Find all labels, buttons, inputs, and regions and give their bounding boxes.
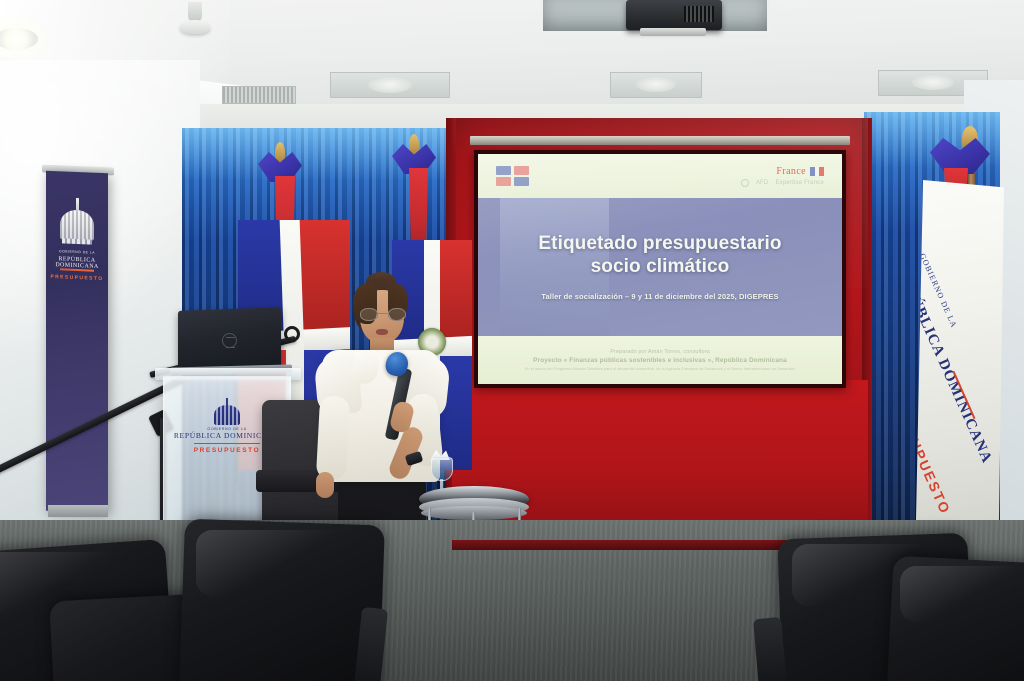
expertise-france-logo-label: Expertise France: [775, 180, 824, 186]
conference-room-photo: France AFD Expertise France Etiquetado p…: [0, 0, 1024, 681]
ceiling-diffuser-icon: [368, 76, 412, 93]
ceiling-diffuser-icon: [636, 76, 676, 92]
audience-chair-highlight: [900, 566, 1024, 622]
ceremonial-banner-presupuesto-label: PRESUPUESTO: [912, 394, 954, 517]
dome-base-icon: [62, 238, 92, 244]
ceremonial-banner-cloth: GOBIERNO DE LA REPÚBLICA DOMINICANA PRES…: [912, 180, 1004, 550]
french-flag-icon: [810, 167, 824, 176]
ceremonial-banner-country-label: REPÚBLICA DOMINICANA: [912, 264, 995, 466]
flag-quadrant-red: [496, 177, 511, 186]
flag-quadrant-blue: [514, 177, 529, 186]
screen-mount-bar: [470, 136, 850, 145]
water-glass[interactable]: [431, 457, 453, 481]
podium-presupuesto-label: PRESUPUESTO: [194, 447, 261, 454]
microphone-clip-icon[interactable]: [284, 326, 300, 342]
afd-logo-label: AFD: [756, 180, 769, 186]
eyeglasses-icon: [360, 308, 406, 321]
slide-footer-author: Preparado por Amán Torres, consultora: [610, 349, 710, 355]
capitol-dome-logo: [60, 209, 94, 240]
slide-subtitle: Taller de socialización – 9 y 11 de dici…: [541, 292, 778, 301]
rollup-banner-left: GOBIERNO DE LA REPÚBLICA DOMINICANA PRES…: [46, 171, 108, 514]
slide-body: Etiquetado presupuestario socio climátic…: [478, 198, 842, 336]
audience-chair-highlight: [196, 530, 346, 596]
dominican-republic-government-logo: [496, 166, 529, 186]
presenter-hand-left: [316, 472, 334, 498]
air-vent-icon: [222, 86, 296, 104]
flag-quadrant-blue: [496, 166, 511, 175]
podium-divider: [194, 443, 260, 444]
presenter-mouth: [376, 329, 388, 335]
partner-logo-row: AFD Expertise France: [741, 179, 824, 187]
smoke-detector-stem: [188, 2, 202, 22]
slide-footer: Preparado por Amán Torres, consultora Pr…: [478, 336, 842, 384]
podium-capitol-dome-logo: [214, 405, 240, 425]
banner-gov-label: GOBIERNO DE LA: [46, 249, 108, 256]
slide-title-line-2: socio climático: [591, 256, 730, 277]
slide-title-line-1: Etiquetado presupuestario: [538, 233, 781, 254]
presenter-arm-left: [316, 395, 350, 480]
projector-vent-icon: [684, 6, 714, 22]
hp-logo-icon: [222, 333, 237, 348]
flag-quadrant-red: [514, 166, 529, 175]
smoke-detector-icon: [180, 20, 210, 34]
red-wall-lower: [452, 380, 868, 543]
slide-title: Etiquetado presupuestario socio climátic…: [538, 233, 781, 277]
banner-divider: [60, 268, 94, 271]
france-partner-block: France AFD Expertise France: [741, 166, 824, 187]
france-label: France: [776, 166, 806, 177]
projector-lens-icon: [640, 28, 706, 36]
projection-screen: France AFD Expertise France Etiquetado p…: [478, 154, 842, 384]
rollup-banner-base: [48, 505, 108, 517]
slide-header: France AFD Expertise France: [478, 154, 842, 198]
ceiling-diffuser-icon: [912, 74, 954, 90]
slide-footer-project: Proyecto « Finanzas públicas sostenibles…: [533, 357, 787, 364]
slide-footer-program: En el marco del Programa Alianza Climáti…: [525, 366, 796, 371]
banner-presupuesto-label: PRESUPUESTO: [46, 274, 108, 283]
afd-logo-icon: [741, 179, 749, 187]
